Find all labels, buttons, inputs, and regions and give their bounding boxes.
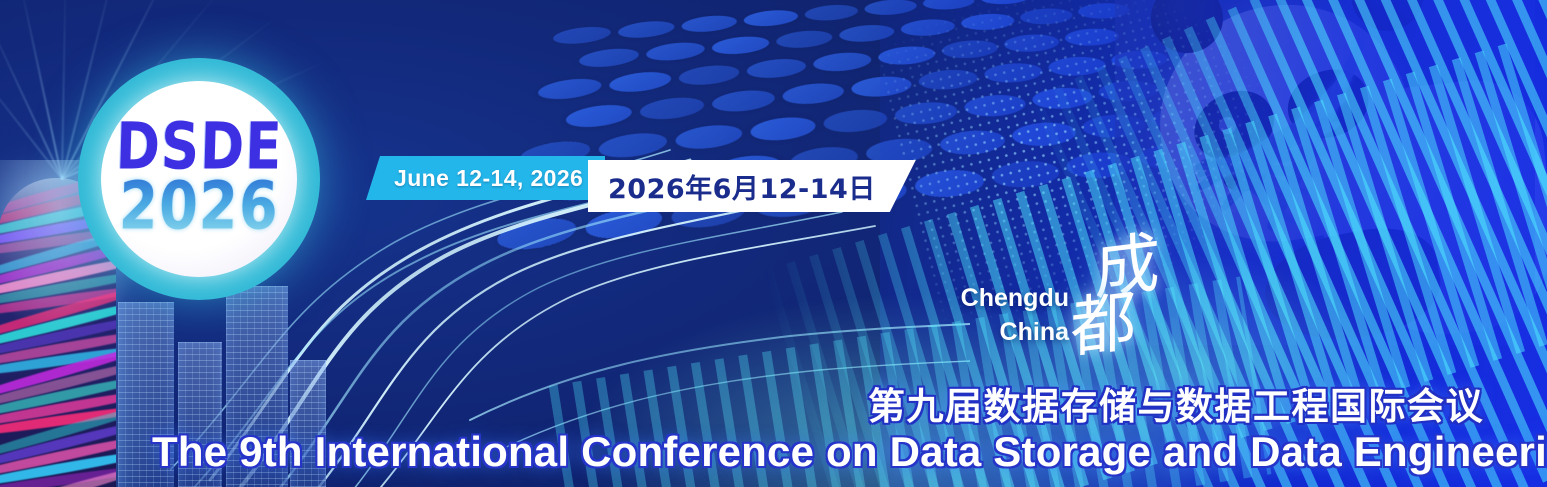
ellipse-cell [536, 76, 603, 101]
ellipse-cell [712, 34, 770, 56]
ellipse-cell [608, 70, 672, 95]
ellipse-cell [775, 29, 834, 50]
conference-banner: DSDE 2026 June 12-14, 2026 2026年6月12-14日… [0, 0, 1547, 487]
ellipse-cell [645, 40, 704, 62]
location-label: Chengdu China [945, 282, 1069, 349]
ellipse-cell [678, 63, 739, 87]
logo-year: 2026 [118, 174, 280, 240]
conference-logo[interactable]: DSDE 2026 [78, 58, 320, 300]
ellipse-cell [493, 215, 578, 254]
ellipse-cell [675, 122, 743, 151]
ellipse-cell [743, 8, 799, 28]
ellipse-cell [782, 81, 846, 107]
ellipse-cell [712, 88, 776, 114]
conference-title-english: The 9th International Conference on Data… [152, 428, 1547, 476]
conference-title-chinese: 第九届数据存储与数据工程国际会议 [868, 376, 1484, 430]
date-banner-chinese: 2026年6月12-14日 [588, 160, 916, 212]
ellipse-cell [812, 50, 874, 73]
location-country: China [945, 316, 1069, 350]
location-city: Chengdu [945, 282, 1069, 316]
ellipse-cell [639, 95, 704, 122]
ellipse-cell [577, 46, 640, 69]
date-banner-english: June 12-14, 2026 [366, 156, 605, 200]
ellipse-cell [750, 115, 817, 144]
ellipse-cell [597, 130, 668, 160]
ellipse-cell [804, 3, 860, 23]
ellipse-cell [564, 102, 633, 130]
date-chinese-text: 2026年6月12-14日 [608, 167, 876, 206]
date-english-text: June 12-14, 2026 [394, 165, 583, 192]
logo-inner-circle: DSDE 2026 [101, 81, 297, 277]
ellipse-cell [746, 57, 807, 81]
